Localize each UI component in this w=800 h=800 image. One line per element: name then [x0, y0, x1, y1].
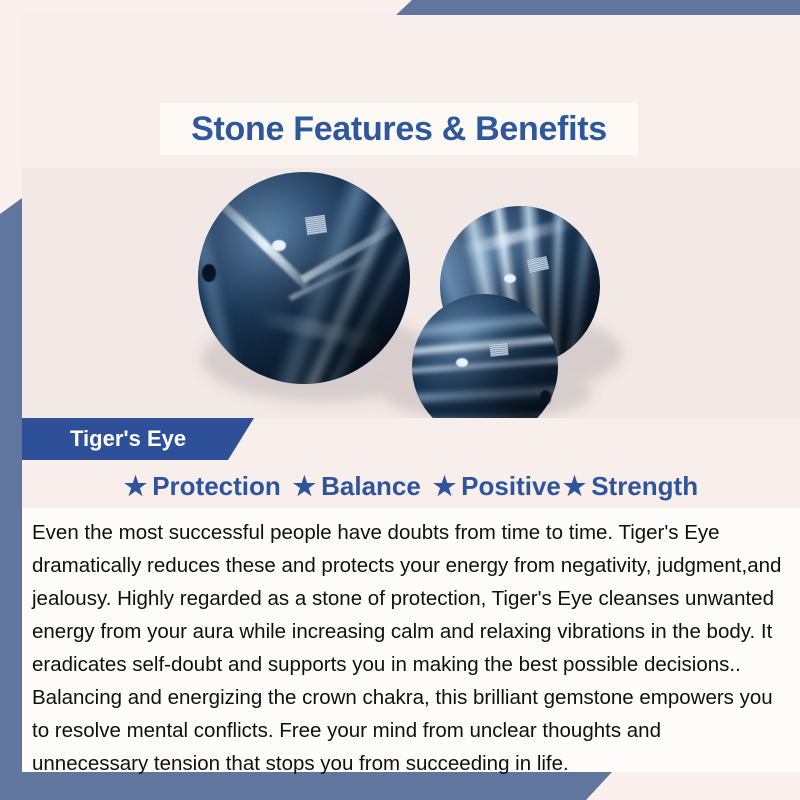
- gemstone-sphere-large: [198, 172, 410, 384]
- product-photo: [22, 168, 800, 418]
- gemstone-sphere-front: [412, 294, 558, 418]
- benefit-label: Positive: [461, 473, 561, 499]
- description-text: Even the most successful people have dou…: [32, 516, 782, 780]
- benefits-row: ★ Protection ★ Balance ★ Positive ★ Stre…: [22, 464, 800, 508]
- sphere-reflection-marker: [305, 215, 327, 236]
- infographic-page: Stone Features & Benefits: [0, 0, 800, 800]
- sphere-specular-glint: [456, 358, 468, 367]
- benefit-label: Strength: [591, 473, 698, 499]
- sphere-specular-glint: [272, 240, 286, 251]
- star-icon: ★: [563, 473, 586, 499]
- sphere-reflection-marker: [489, 343, 508, 357]
- product-name-label: Tiger's Eye: [22, 418, 254, 460]
- sphere-shading: [198, 172, 410, 384]
- sphere-specular-glint: [504, 274, 516, 283]
- star-icon: ★: [433, 473, 456, 499]
- sphere-drill-hole: [202, 264, 216, 282]
- benefit-label: Balance: [321, 473, 421, 499]
- benefit-item: ★ Balance: [293, 473, 421, 499]
- star-icon: ★: [124, 473, 147, 499]
- benefit-item: ★ Strength: [563, 473, 698, 499]
- benefit-item: ★ Positive: [433, 473, 561, 499]
- top-ribbon-decoration: [396, 0, 800, 15]
- star-icon: ★: [293, 473, 316, 499]
- left-ribbon-decoration: [0, 198, 22, 782]
- benefit-item: ★ Protection: [124, 473, 281, 499]
- sphere-drill-hole: [540, 390, 551, 405]
- page-title: Stone Features & Benefits: [160, 103, 638, 155]
- description-card: Even the most successful people have dou…: [22, 508, 800, 772]
- benefit-label: Protection: [152, 473, 281, 499]
